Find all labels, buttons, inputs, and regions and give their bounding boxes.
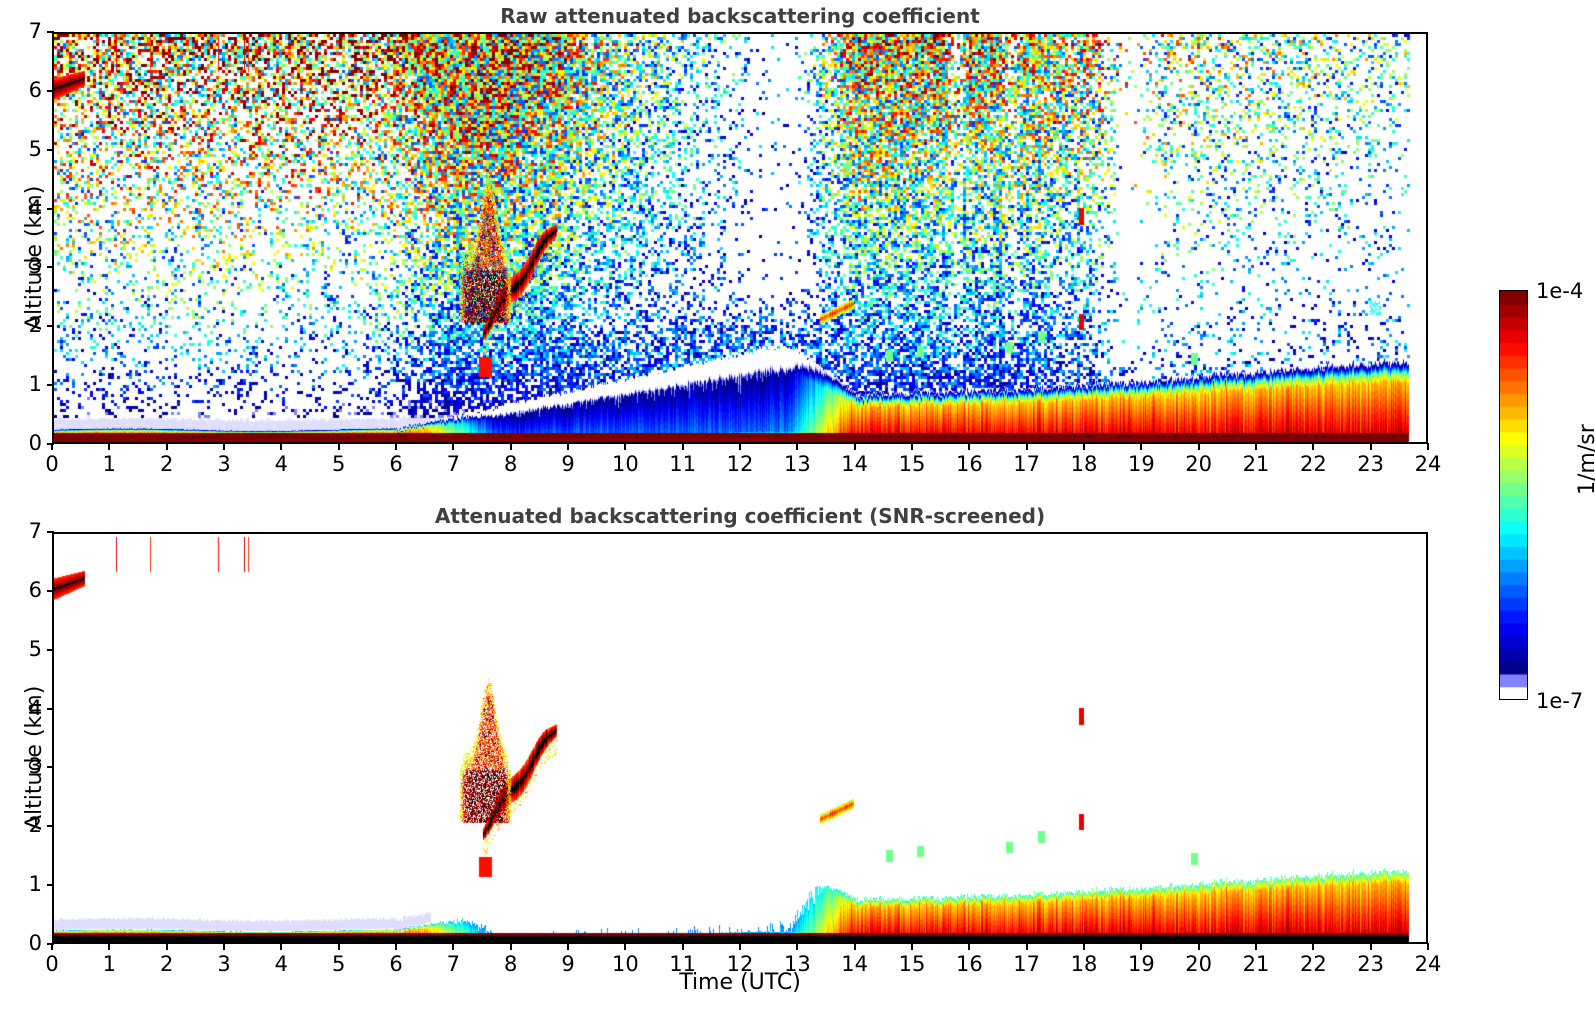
- y-tick-0-7: [47, 31, 54, 33]
- x-tick-label-1-6: 6: [376, 952, 416, 976]
- y-tick-1-7: [47, 531, 54, 533]
- x-tick-1-21: [1255, 943, 1257, 950]
- plot-area-raw: [52, 32, 1428, 444]
- x-tick-0-20: [1198, 443, 1200, 450]
- x-tick-label-1-23: 23: [1351, 952, 1391, 976]
- x-tick-1-22: [1312, 943, 1314, 950]
- y-tick-1-1: [47, 884, 54, 886]
- y-tick-label-1-1: 1: [8, 872, 42, 896]
- x-tick-0-1: [108, 443, 110, 450]
- x-tick-label-0-19: 19: [1121, 452, 1161, 476]
- panel-title-raw: Raw attenuated backscattering coefficien…: [52, 4, 1428, 28]
- lidar-quicklook-figure: Raw attenuated backscattering coefficien…: [0, 0, 1595, 1020]
- x-tick-label-1-21: 21: [1236, 952, 1276, 976]
- x-tick-label-1-22: 22: [1293, 952, 1333, 976]
- x-tick-1-12: [739, 943, 741, 950]
- x-tick-0-12: [739, 443, 741, 450]
- x-tick-label-0-15: 15: [892, 452, 932, 476]
- x-tick-label-1-11: 11: [663, 952, 703, 976]
- colorbar-unit-label: 1/m/sr: [1575, 424, 1595, 495]
- y-tick-0-2: [47, 325, 54, 327]
- y-tick-1-5: [47, 649, 54, 651]
- x-tick-label-0-13: 13: [777, 452, 817, 476]
- x-tick-1-14: [854, 943, 856, 950]
- x-tick-1-8: [510, 943, 512, 950]
- x-tick-0-6: [395, 443, 397, 450]
- x-tick-1-24: [1427, 943, 1429, 950]
- x-tick-0-22: [1312, 443, 1314, 450]
- y-tick-label-0-5: 5: [8, 137, 42, 161]
- x-tick-1-17: [1026, 943, 1028, 950]
- x-tick-0-16: [968, 443, 970, 450]
- x-tick-label-1-19: 19: [1121, 952, 1161, 976]
- x-tick-0-23: [1370, 443, 1372, 450]
- y-tick-1-4: [47, 708, 54, 710]
- x-tick-label-1-1: 1: [89, 952, 129, 976]
- x-tick-label-0-1: 1: [89, 452, 129, 476]
- x-tick-label-0-22: 22: [1293, 452, 1333, 476]
- x-tick-label-1-24: 24: [1408, 952, 1448, 976]
- x-tick-1-18: [1083, 943, 1085, 950]
- colorbar: [1499, 290, 1528, 700]
- x-tick-1-19: [1140, 943, 1142, 950]
- y-tick-label-0-0: 0: [8, 431, 42, 455]
- x-tick-0-14: [854, 443, 856, 450]
- panel-title-snr: Attenuated backscattering coefficient (S…: [52, 504, 1428, 528]
- x-tick-1-5: [338, 943, 340, 950]
- x-tick-label-1-9: 9: [548, 952, 588, 976]
- x-tick-1-15: [911, 943, 913, 950]
- y-tick-1-0: [47, 943, 54, 945]
- x-tick-label-1-17: 17: [1007, 952, 1047, 976]
- x-tick-label-1-5: 5: [319, 952, 359, 976]
- x-tick-0-5: [338, 443, 340, 450]
- x-tick-label-0-2: 2: [147, 452, 187, 476]
- x-tick-0-11: [682, 443, 684, 450]
- y-tick-label-0-4: 4: [8, 196, 42, 220]
- x-tick-1-4: [280, 943, 282, 950]
- y-tick-label-1-5: 5: [8, 637, 42, 661]
- x-tick-label-0-14: 14: [835, 452, 875, 476]
- x-tick-1-2: [166, 943, 168, 950]
- x-tick-label-1-8: 8: [491, 952, 531, 976]
- x-tick-1-13: [796, 943, 798, 950]
- colorbar-max-label: 1e-4: [1536, 279, 1583, 303]
- x-tick-label-0-11: 11: [663, 452, 703, 476]
- x-tick-1-7: [452, 943, 454, 950]
- x-tick-1-16: [968, 943, 970, 950]
- x-tick-0-19: [1140, 443, 1142, 450]
- x-tick-0-13: [796, 443, 798, 450]
- y-tick-0-3: [47, 266, 54, 268]
- x-tick-label-1-3: 3: [204, 952, 244, 976]
- x-tick-label-0-23: 23: [1351, 452, 1391, 476]
- x-tick-0-2: [166, 443, 168, 450]
- heatmap-raw: [54, 34, 1426, 442]
- y-tick-0-1: [47, 384, 54, 386]
- x-tick-label-0-7: 7: [433, 452, 473, 476]
- x-tick-0-9: [567, 443, 569, 450]
- y-tick-label-1-7: 7: [8, 519, 42, 543]
- x-tick-1-11: [682, 943, 684, 950]
- x-tick-0-24: [1427, 443, 1429, 450]
- y-tick-label-1-3: 3: [8, 754, 42, 778]
- y-tick-0-0: [47, 443, 54, 445]
- x-tick-label-1-7: 7: [433, 952, 473, 976]
- x-tick-0-17: [1026, 443, 1028, 450]
- x-tick-label-1-20: 20: [1179, 952, 1219, 976]
- x-tick-label-1-18: 18: [1064, 952, 1104, 976]
- x-tick-label-0-18: 18: [1064, 452, 1104, 476]
- y-tick-1-6: [47, 590, 54, 592]
- x-tick-label-1-14: 14: [835, 952, 875, 976]
- x-tick-label-0-17: 17: [1007, 452, 1047, 476]
- y-tick-label-1-6: 6: [8, 578, 42, 602]
- y-tick-0-6: [47, 90, 54, 92]
- y-tick-label-0-1: 1: [8, 372, 42, 396]
- y-tick-label-0-7: 7: [8, 19, 42, 43]
- y-tick-0-5: [47, 149, 54, 151]
- x-tick-label-1-15: 15: [892, 952, 932, 976]
- x-tick-label-0-16: 16: [949, 452, 989, 476]
- x-tick-1-20: [1198, 943, 1200, 950]
- y-tick-1-2: [47, 825, 54, 827]
- x-tick-label-0-10: 10: [605, 452, 645, 476]
- x-tick-label-1-16: 16: [949, 952, 989, 976]
- x-tick-label-0-8: 8: [491, 452, 531, 476]
- y-tick-1-3: [47, 766, 54, 768]
- heatmap-snr: [54, 534, 1426, 942]
- x-tick-label-0-5: 5: [319, 452, 359, 476]
- x-tick-label-0-9: 9: [548, 452, 588, 476]
- x-tick-1-1: [108, 943, 110, 950]
- x-tick-0-15: [911, 443, 913, 450]
- colorbar-min-label: 1e-7: [1536, 689, 1583, 713]
- x-tick-1-10: [624, 943, 626, 950]
- y-tick-label-1-2: 2: [8, 813, 42, 837]
- plot-area-snr: [52, 532, 1428, 944]
- x-tick-label-1-13: 13: [777, 952, 817, 976]
- x-tick-0-7: [452, 443, 454, 450]
- x-tick-label-0-20: 20: [1179, 452, 1219, 476]
- y-tick-label-0-3: 3: [8, 254, 42, 278]
- x-tick-label-1-0: 0: [32, 952, 72, 976]
- x-tick-0-10: [624, 443, 626, 450]
- x-tick-label-1-10: 10: [605, 952, 645, 976]
- x-tick-label-0-6: 6: [376, 452, 416, 476]
- y-tick-label-1-4: 4: [8, 696, 42, 720]
- x-tick-label-0-3: 3: [204, 452, 244, 476]
- y-tick-label-0-2: 2: [8, 313, 42, 337]
- y-tick-0-4: [47, 208, 54, 210]
- x-tick-1-9: [567, 943, 569, 950]
- x-tick-label-0-24: 24: [1408, 452, 1448, 476]
- x-tick-1-6: [395, 943, 397, 950]
- x-tick-0-21: [1255, 443, 1257, 450]
- x-tick-0-3: [223, 443, 225, 450]
- x-tick-0-18: [1083, 443, 1085, 450]
- y-tick-label-0-6: 6: [8, 78, 42, 102]
- x-tick-label-0-0: 0: [32, 452, 72, 476]
- x-tick-label-1-4: 4: [261, 952, 301, 976]
- x-tick-0-4: [280, 443, 282, 450]
- x-tick-label-0-21: 21: [1236, 452, 1276, 476]
- x-tick-label-1-12: 12: [720, 952, 760, 976]
- x-tick-1-23: [1370, 943, 1372, 950]
- x-tick-label-1-2: 2: [147, 952, 187, 976]
- y-tick-label-1-0: 0: [8, 931, 42, 955]
- x-tick-1-3: [223, 943, 225, 950]
- x-tick-label-0-4: 4: [261, 452, 301, 476]
- x-tick-0-8: [510, 443, 512, 450]
- x-tick-label-0-12: 12: [720, 452, 760, 476]
- colorbar-gradient: [1500, 291, 1527, 699]
